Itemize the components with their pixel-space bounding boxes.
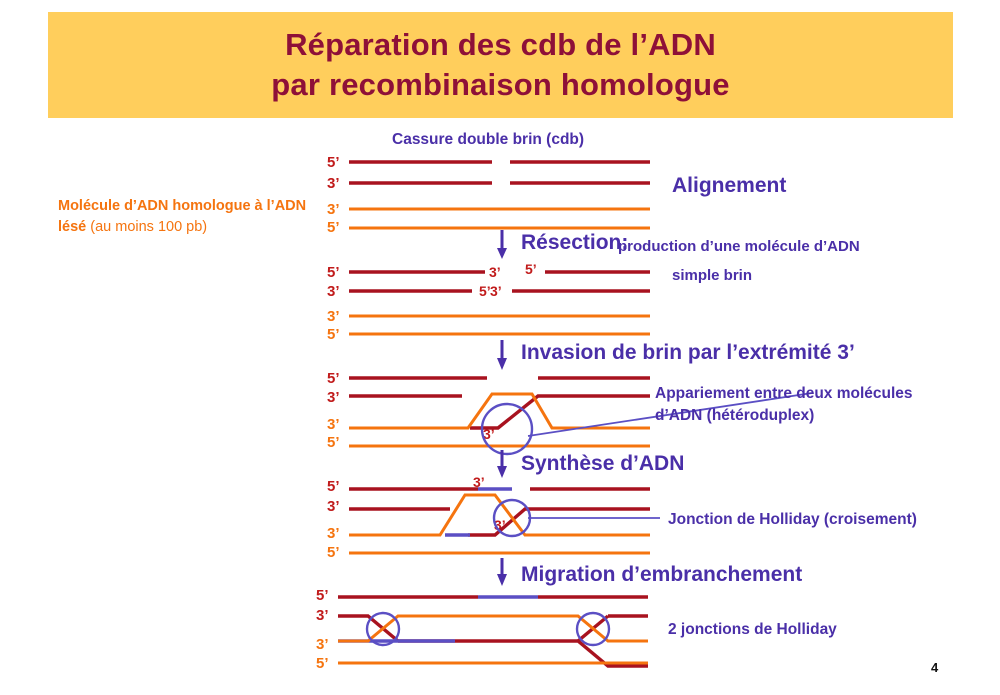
recombination-diagram: Cassure double brin (cdb) 5’ 3’ 3’ 5’ Al… (0, 0, 1000, 695)
migration-end-5prime-bottom: 5’ (316, 655, 329, 672)
step-alignement: 5’ 3’ 3’ 5’ Alignement (327, 154, 786, 236)
homologous-dna-strands-step1 (349, 209, 650, 228)
end-label-5prime-bottom: 5’ (327, 219, 340, 236)
homologous-dna-strands-step2 (349, 316, 650, 334)
end-label-3prime-top: 3’ (327, 175, 340, 192)
resection-inline-3prime-right: 3’ (490, 283, 502, 299)
step-synthese: Synthèse d’ADN 5’ 3’ 3’ 5’ 3’ 3’ Jonct (327, 450, 917, 561)
damaged-dna-strands-step1 (349, 162, 650, 183)
label-double-strand-break: Cassure double brin (cdb) (392, 131, 584, 148)
step-head-alignement: Alignement (672, 174, 786, 197)
resection-end-3prime-homotop: 3’ (327, 308, 340, 325)
step-sub-resection-line2: simple brin (672, 267, 752, 284)
step-migration: Migration d’embranchement 5’ 3’ 3’ 5’ (316, 558, 837, 672)
slide-canvas: Réparation des cdb de l’ADN par recombin… (0, 0, 1000, 695)
synthese-end-5prime-top: 5’ (327, 478, 340, 495)
homologous-displaced-strand-step3 (349, 394, 650, 428)
note-holliday-junction: Jonction de Holliday (croisement) (668, 511, 917, 528)
resection-inline-5prime-right: 5’ (525, 261, 537, 277)
resection-inline-3prime-left: 3’ (489, 264, 501, 280)
invasion-end-5prime-top: 5’ (327, 370, 340, 387)
invasion-end-3prime-top: 3’ (327, 389, 340, 406)
arrow-to-migration (497, 558, 507, 586)
synthese-end-3prime-top: 3’ (327, 498, 340, 515)
note-heteroduplex-line2: d’ADN (hétéroduplex) (655, 407, 814, 424)
arrow-to-invasion (497, 340, 507, 370)
resection-end-5prime-topleft: 5’ (327, 264, 340, 281)
synthese-end-5prime-bottom: 5’ (327, 544, 340, 561)
damaged-dna-invading-strand-step3 (470, 396, 650, 428)
migration-end-3prime-top: 3’ (316, 607, 329, 624)
slide-number: 4 (931, 660, 939, 675)
migration-end-3prime-bottom: 3’ (316, 636, 329, 653)
step-invasion: Invasion de brin par l’extrémité 3’ 5’ 3… (327, 340, 913, 454)
step-sub-resection-line1: production d’une molécule d’ADN (618, 238, 860, 255)
step-resection: Résection: production d’une molécule d’A… (327, 230, 860, 343)
step-head-synthese: Synthèse d’ADN (521, 452, 684, 475)
end-label-5prime-top: 5’ (327, 154, 340, 171)
arrow-to-resection (497, 230, 507, 259)
step-head-invasion: Invasion de brin par l’extrémité 3’ (521, 341, 855, 364)
step-head-migration: Migration d’embranchement (521, 563, 802, 586)
resection-end-3prime-botleft: 3’ (327, 283, 340, 300)
end-label-3prime-bottom: 3’ (327, 201, 340, 218)
invasion-end-3prime-bottom: 3’ (327, 416, 340, 433)
resection-inline-5prime-left: 5’ (479, 283, 491, 299)
synthese-end-3prime-bottom: 3’ (327, 525, 340, 542)
migration-end-5prime-top: 5’ (316, 587, 329, 604)
invasion-end-5prime-bottom: 5’ (327, 434, 340, 451)
note-two-holliday-junctions: 2 jonctions de Holliday (668, 621, 837, 638)
resection-end-5prime-hombot: 5’ (327, 326, 340, 343)
step-head-resection: Résection: (521, 231, 628, 254)
note-heteroduplex-line1: Appariement entre deux molécules (655, 385, 913, 402)
